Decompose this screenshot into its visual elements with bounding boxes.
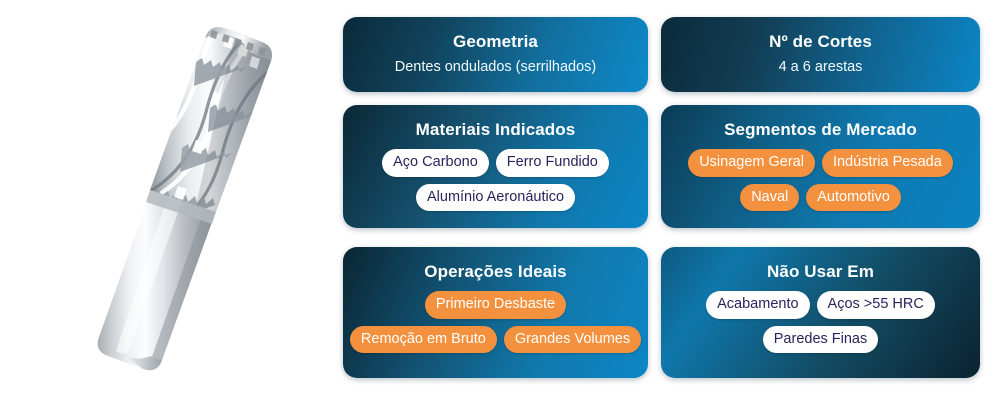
card-title: Operações Ideais — [424, 261, 566, 282]
pill-row: Remoção em Bruto Grandes Volumes — [350, 326, 641, 354]
spec-cards-grid: Geometria Dentes ondulados (serrilhados)… — [340, 0, 1000, 400]
spec-card-segmentos-de-mercado[interactable]: Segmentos de Mercado Usinagem Geral Indú… — [661, 105, 980, 228]
tag-pill[interactable]: Usinagem Geral — [688, 149, 815, 177]
card-subtitle: 4 a 6 arestas — [779, 58, 863, 77]
spec-card-numero-de-cortes[interactable]: Nº de Cortes 4 a 6 arestas — [661, 17, 980, 92]
pill-row: Paredes Finas — [763, 326, 879, 354]
pill-row: Naval Automotivo — [740, 184, 901, 212]
tag-pill[interactable]: Ferro Fundido — [496, 149, 609, 177]
tag-pill[interactable]: Aço Carbono — [382, 149, 489, 177]
tag-pill[interactable]: Indústria Pesada — [822, 149, 953, 177]
tag-pill[interactable]: Paredes Finas — [763, 326, 879, 354]
tag-pill[interactable]: Aços >55 HRC — [817, 291, 935, 319]
spec-sheet-page: Geometria Dentes ondulados (serrilhados)… — [0, 0, 1000, 400]
card-subtitle: Dentes ondulados (serrilhados) — [395, 58, 597, 77]
card-title: Materiais Indicados — [416, 119, 576, 140]
spec-card-operacoes-ideais[interactable]: Operações Ideais Primeiro Desbaste Remoç… — [343, 247, 648, 378]
tag-pill[interactable]: Grandes Volumes — [504, 326, 641, 354]
tag-pill[interactable]: Primeiro Desbaste — [425, 291, 566, 319]
pill-rows: Primeiro Desbaste Remoção em Bruto Grand… — [355, 291, 636, 353]
tag-pill[interactable]: Alumínio Aeronáutico — [416, 184, 575, 212]
card-title: Nº de Cortes — [769, 31, 872, 52]
tag-pill[interactable]: Remoção em Bruto — [350, 326, 497, 354]
pill-row: Aço Carbono Ferro Fundido — [382, 149, 609, 177]
spec-card-materiais-indicados[interactable]: Materiais Indicados Aço Carbono Ferro Fu… — [343, 105, 648, 228]
pill-row: Acabamento Aços >55 HRC — [706, 291, 935, 319]
product-image-pane — [0, 0, 340, 400]
roughing-end-mill-photo — [0, 0, 340, 400]
pill-rows: Acabamento Aços >55 HRC Paredes Finas — [673, 291, 968, 353]
tag-pill[interactable]: Acabamento — [706, 291, 809, 319]
spec-card-geometria[interactable]: Geometria Dentes ondulados (serrilhados) — [343, 17, 648, 92]
pill-rows: Aço Carbono Ferro Fundido Alumínio Aeron… — [355, 149, 636, 211]
spec-card-nao-usar-em[interactable]: Não Usar Em Acabamento Aços >55 HRC Pare… — [661, 247, 980, 378]
pill-row: Usinagem Geral Indústria Pesada — [688, 149, 953, 177]
pill-row: Alumínio Aeronáutico — [416, 184, 575, 212]
tag-pill[interactable]: Naval — [740, 184, 799, 212]
card-title: Geometria — [453, 31, 538, 52]
tag-pill[interactable]: Automotivo — [806, 184, 901, 212]
pill-rows: Usinagem Geral Indústria Pesada Naval Au… — [673, 149, 968, 211]
pill-row: Primeiro Desbaste — [425, 291, 566, 319]
card-title: Não Usar Em — [767, 261, 874, 282]
card-title: Segmentos de Mercado — [724, 119, 917, 140]
